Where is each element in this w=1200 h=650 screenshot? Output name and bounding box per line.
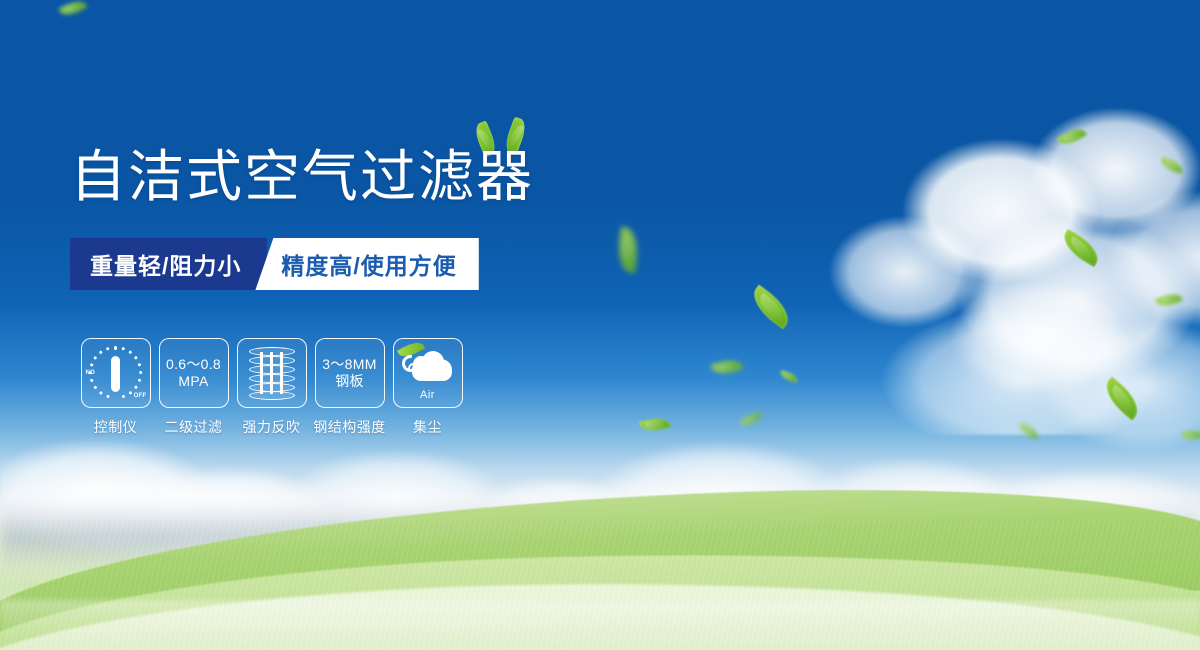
- pressure-value-icon: 0.6～0.8 MPA: [166, 356, 221, 390]
- leaf-icon: [1155, 290, 1184, 311]
- leaf-icon: [1181, 428, 1200, 442]
- leaf-icon: [746, 285, 796, 330]
- cloud-right-soft: [920, 250, 1200, 470]
- gauge-off-label: OFF: [134, 393, 147, 399]
- feature-icon-box: 3～8MM 钢板: [315, 338, 385, 408]
- filter-cartridge-icon: [249, 347, 295, 399]
- gauge-on-label: NO: [86, 370, 96, 376]
- leaf-icon: [711, 356, 744, 379]
- leaf-icon: [615, 227, 641, 273]
- feature-label: 钢结构强度: [312, 417, 387, 437]
- subtitle-bar: 重量轻/阻力小 精度高/使用方便: [70, 238, 479, 290]
- feature-item-blowback[interactable]: 强力反吹: [234, 338, 309, 437]
- feature-icon-box: Air: [393, 338, 463, 408]
- leaf-icon: [639, 415, 671, 435]
- feature-label: 二级过滤: [156, 417, 231, 437]
- steel-plate-icon: 3～8MM 钢板: [322, 356, 376, 390]
- leaf-icon: [1058, 229, 1104, 267]
- leaf-icon: [779, 370, 799, 383]
- feature-item-pressure[interactable]: 0.6～0.8 MPA 二级过滤: [156, 338, 231, 437]
- feature-label: 强力反吹: [234, 417, 309, 437]
- air-cloud-icon: Air: [400, 349, 456, 397]
- page-title: 自洁式空气过滤器: [70, 146, 534, 208]
- pressure-unit-text: MPA: [166, 373, 221, 390]
- feature-icon-box: 0.6～0.8 MPA: [159, 338, 229, 408]
- subtitle-right-tag: 精度高/使用方便: [255, 238, 478, 290]
- feature-list: NO OFF 控制仪 0.6～0.8 MPA 二级过滤: [78, 338, 465, 437]
- product-hero-banner: 自洁式空气过滤器 重量轻/阻力小 精度高/使用方便: [0, 0, 1200, 650]
- leaf-icon: [739, 408, 762, 430]
- leaf-icon: [1057, 124, 1088, 150]
- gauge-needle-icon: [111, 356, 120, 392]
- leaf-icon: [1098, 376, 1145, 420]
- gauge-icon: NO OFF: [87, 344, 145, 402]
- cloud-right-large: [780, 95, 1200, 435]
- pressure-range-text: 0.6～0.8: [166, 356, 221, 373]
- leaf-icon: [1159, 157, 1185, 175]
- feature-item-dust[interactable]: Air 集尘: [390, 338, 465, 437]
- feature-item-steel[interactable]: 3～8MM 钢板 钢结构强度: [312, 338, 387, 437]
- steel-material-text: 钢板: [322, 373, 376, 390]
- feature-label: 集尘: [390, 417, 465, 437]
- feature-icon-box: NO OFF: [81, 338, 151, 408]
- leaf-icon: [59, 0, 88, 19]
- steel-thickness-text: 3～8MM: [322, 356, 376, 373]
- feature-icon-box: [237, 338, 307, 408]
- air-label: Air: [400, 389, 456, 401]
- feature-item-controller[interactable]: NO OFF 控制仪: [78, 338, 153, 437]
- leaf-icon: [1017, 422, 1041, 440]
- feature-label: 控制仪: [78, 417, 153, 437]
- grass-texture: [0, 520, 1200, 650]
- subtitle-left-tag: 重量轻/阻力小: [70, 238, 267, 290]
